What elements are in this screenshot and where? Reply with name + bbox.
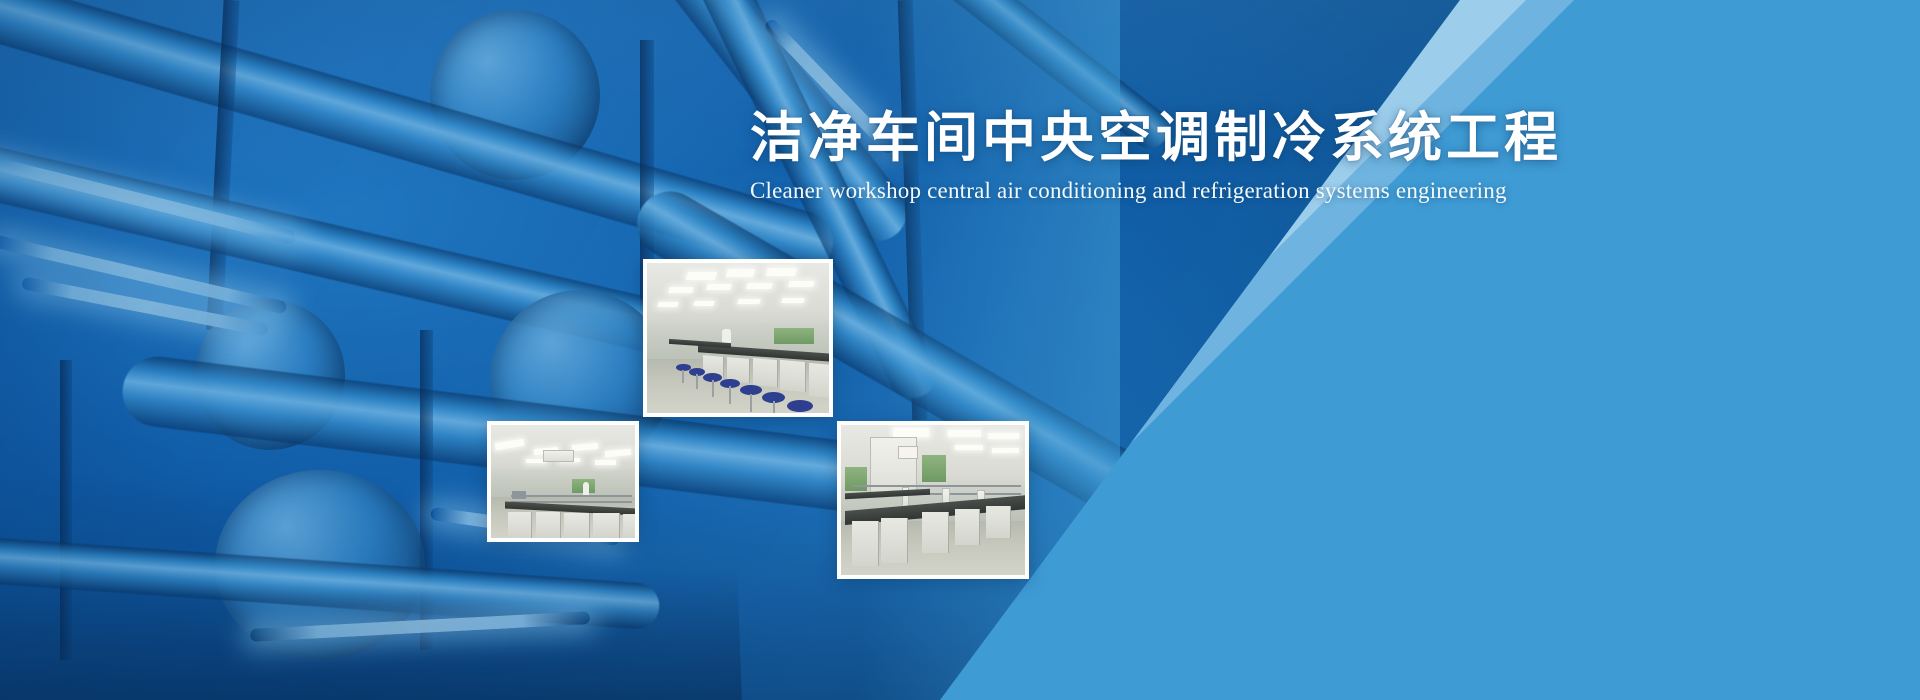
lab-cabinet [753, 358, 778, 387]
ceiling-light-panel [766, 268, 797, 276]
lab-cabinet [508, 512, 532, 538]
photo-content [647, 263, 829, 413]
ceiling-light-panel [988, 433, 1019, 440]
ceiling-light-panel [893, 428, 930, 437]
ceiling-light-panel [781, 298, 804, 303]
fume-hood-control-panel [898, 446, 918, 459]
lab-cabinet [922, 512, 949, 553]
ceiling-light-panel [955, 445, 983, 450]
service-rail [512, 491, 526, 499]
ceiling-light-panel [694, 301, 716, 306]
lab-stool [787, 400, 812, 412]
photo-lab-with-blue-stools [643, 259, 833, 417]
lab-technician [583, 482, 589, 496]
stool-leg [750, 394, 752, 412]
lab-window [774, 328, 814, 345]
ceiling-light-panel [788, 281, 815, 287]
headline-block: 洁净车间中央空调制冷系统工程 Cleaner workshop central … [750, 108, 1450, 204]
stool-leg [773, 401, 775, 413]
lab-window [922, 455, 946, 482]
photo-content [841, 425, 1025, 575]
stool-leg [682, 370, 684, 384]
ceiling-duct-hood [543, 450, 574, 462]
service-rail [852, 485, 1021, 487]
stool-leg [696, 374, 698, 389]
lab-cabinet [809, 362, 833, 397]
ceiling-light-panel [726, 269, 755, 277]
lab-cabinet [986, 506, 1011, 538]
ceiling-light-panel [746, 283, 773, 289]
lab-cabinet [955, 509, 980, 545]
ceiling-light-panel [668, 287, 693, 293]
ceiling-light-panel [737, 299, 760, 304]
lab-cabinet [564, 513, 589, 538]
stool-leg [712, 380, 714, 397]
lab-cabinet [593, 513, 620, 538]
lab-cabinet [852, 521, 879, 566]
ceiling-light-panel [992, 448, 1020, 453]
photo-lab-fume-hood-bench [837, 421, 1029, 579]
hero-banner: 洁净车间中央空调制冷系统工程 Cleaner workshop central … [0, 0, 1920, 700]
banner-title-chinese: 洁净车间中央空调制冷系统工程 [750, 108, 1450, 168]
ceiling-light-panel [595, 460, 617, 465]
ceiling-light-panel [657, 302, 679, 307]
service-rail [511, 495, 632, 497]
stool-leg [729, 386, 731, 404]
ceiling-light-panel [948, 430, 981, 438]
lab-window [845, 467, 867, 491]
photo-lab-benches-overview [487, 421, 639, 542]
ceiling-light-panel [706, 284, 731, 290]
ceiling-light-panel [686, 272, 717, 280]
banner-subtitle-english: Cleaner workshop central air conditionin… [750, 178, 1450, 204]
photo-content [491, 425, 635, 538]
lab-cabinet [881, 518, 908, 563]
lab-cabinet [780, 359, 806, 391]
lab-cabinet [623, 514, 639, 538]
lab-cabinet [536, 512, 561, 538]
